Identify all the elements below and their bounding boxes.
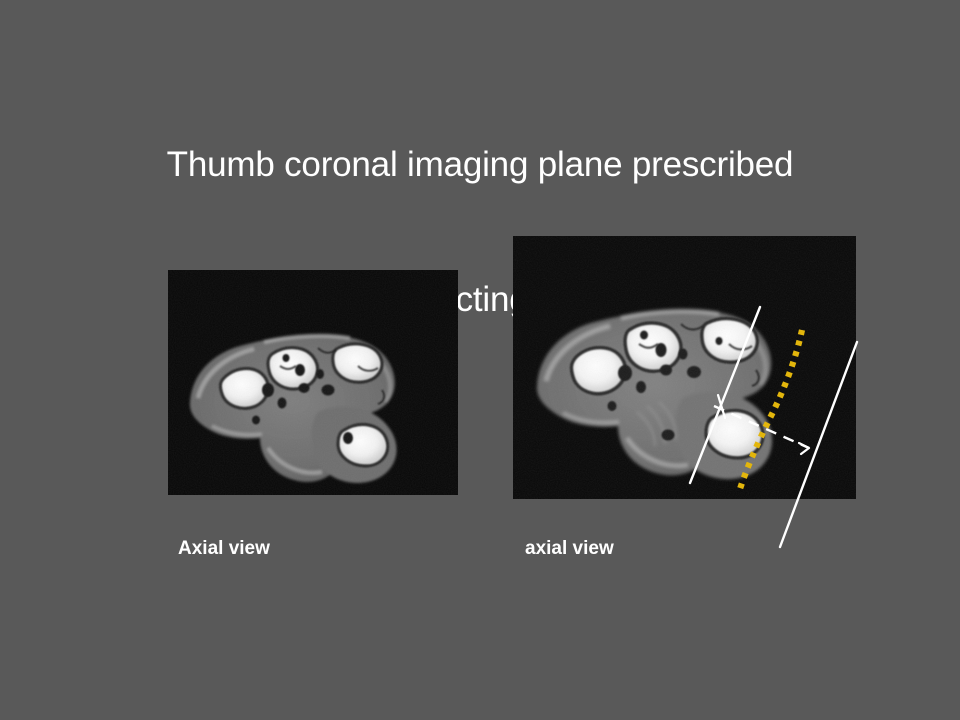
mri-image-left [168, 270, 458, 495]
mri-axial-hand-left [168, 270, 458, 495]
caption-axial-view-right: axial view [525, 538, 614, 560]
figure-axial-view-right [513, 236, 856, 499]
mri-axial-hand-right [513, 236, 856, 499]
figure-axial-view-left [168, 270, 458, 495]
slide: Thumb coronal imaging plane prescribed p… [0, 0, 960, 720]
mri-image-right [513, 236, 856, 499]
caption-axial-view-left: Axial view [178, 538, 270, 560]
title-line-1: Thumb coronal imaging plane prescribed [0, 142, 960, 187]
